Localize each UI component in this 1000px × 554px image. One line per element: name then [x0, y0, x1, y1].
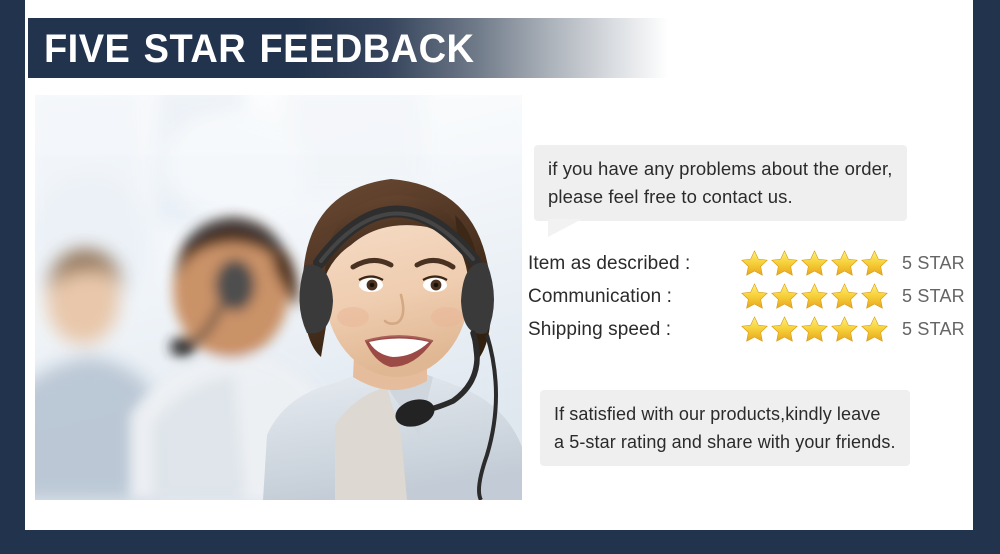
rating-row: Shipping speed : 5 STAR — [528, 313, 968, 346]
title-word-feedback: FEEDBACK — [259, 27, 474, 71]
star-icon — [770, 282, 799, 311]
page-title: FIVESTARFEEDBACK — [44, 24, 474, 74]
rating-label-item-as-described: Item as described : — [528, 253, 740, 275]
star-icon — [740, 282, 769, 311]
star-icon — [860, 249, 889, 278]
satisfaction-note-line-2: a 5-star rating and share with your frie… — [554, 428, 896, 456]
star-rating-item-as-described — [740, 249, 890, 278]
star-icon — [770, 249, 799, 278]
rating-value-communication: 5 STAR — [902, 286, 965, 307]
star-icon — [770, 315, 799, 344]
star-icon — [860, 282, 889, 311]
satisfaction-note-bubble: If satisfied with our products,kindly le… — [540, 390, 910, 466]
title-word-star: STAR — [144, 27, 247, 71]
star-icon — [830, 315, 859, 344]
feedback-banner: FIVESTARFEEDBACK — [0, 0, 1000, 554]
contact-note-line-1: if you have any problems about the order… — [548, 155, 893, 183]
contact-note-bubble: if you have any problems about the order… — [534, 145, 907, 221]
star-icon — [800, 249, 829, 278]
photo-illustration — [35, 95, 522, 500]
customer-service-photo — [35, 95, 522, 500]
rating-label-communication: Communication : — [528, 286, 740, 308]
star-icon — [740, 315, 769, 344]
ratings-list: Item as described : 5 STAR Communication… — [528, 247, 968, 346]
rating-value-shipping-speed: 5 STAR — [902, 319, 965, 340]
star-rating-communication — [740, 282, 890, 311]
rating-label-shipping-speed: Shipping speed : — [528, 319, 740, 341]
star-icon — [740, 249, 769, 278]
rating-value-item-as-described: 5 STAR — [902, 253, 965, 274]
feedback-panel: if you have any problems about the order… — [522, 95, 973, 500]
rating-row: Item as described : 5 STAR — [528, 247, 968, 280]
title-word-five: FIVE — [44, 27, 130, 71]
star-icon — [860, 315, 889, 344]
star-rating-shipping-speed — [740, 315, 890, 344]
star-icon — [800, 282, 829, 311]
satisfaction-note-line-1: If satisfied with our products,kindly le… — [554, 400, 896, 428]
contact-note-line-2: please feel free to contact us. — [548, 183, 893, 211]
rating-row: Communication : 5 STAR — [528, 280, 968, 313]
star-icon — [830, 282, 859, 311]
star-icon — [830, 249, 859, 278]
star-icon — [800, 315, 829, 344]
